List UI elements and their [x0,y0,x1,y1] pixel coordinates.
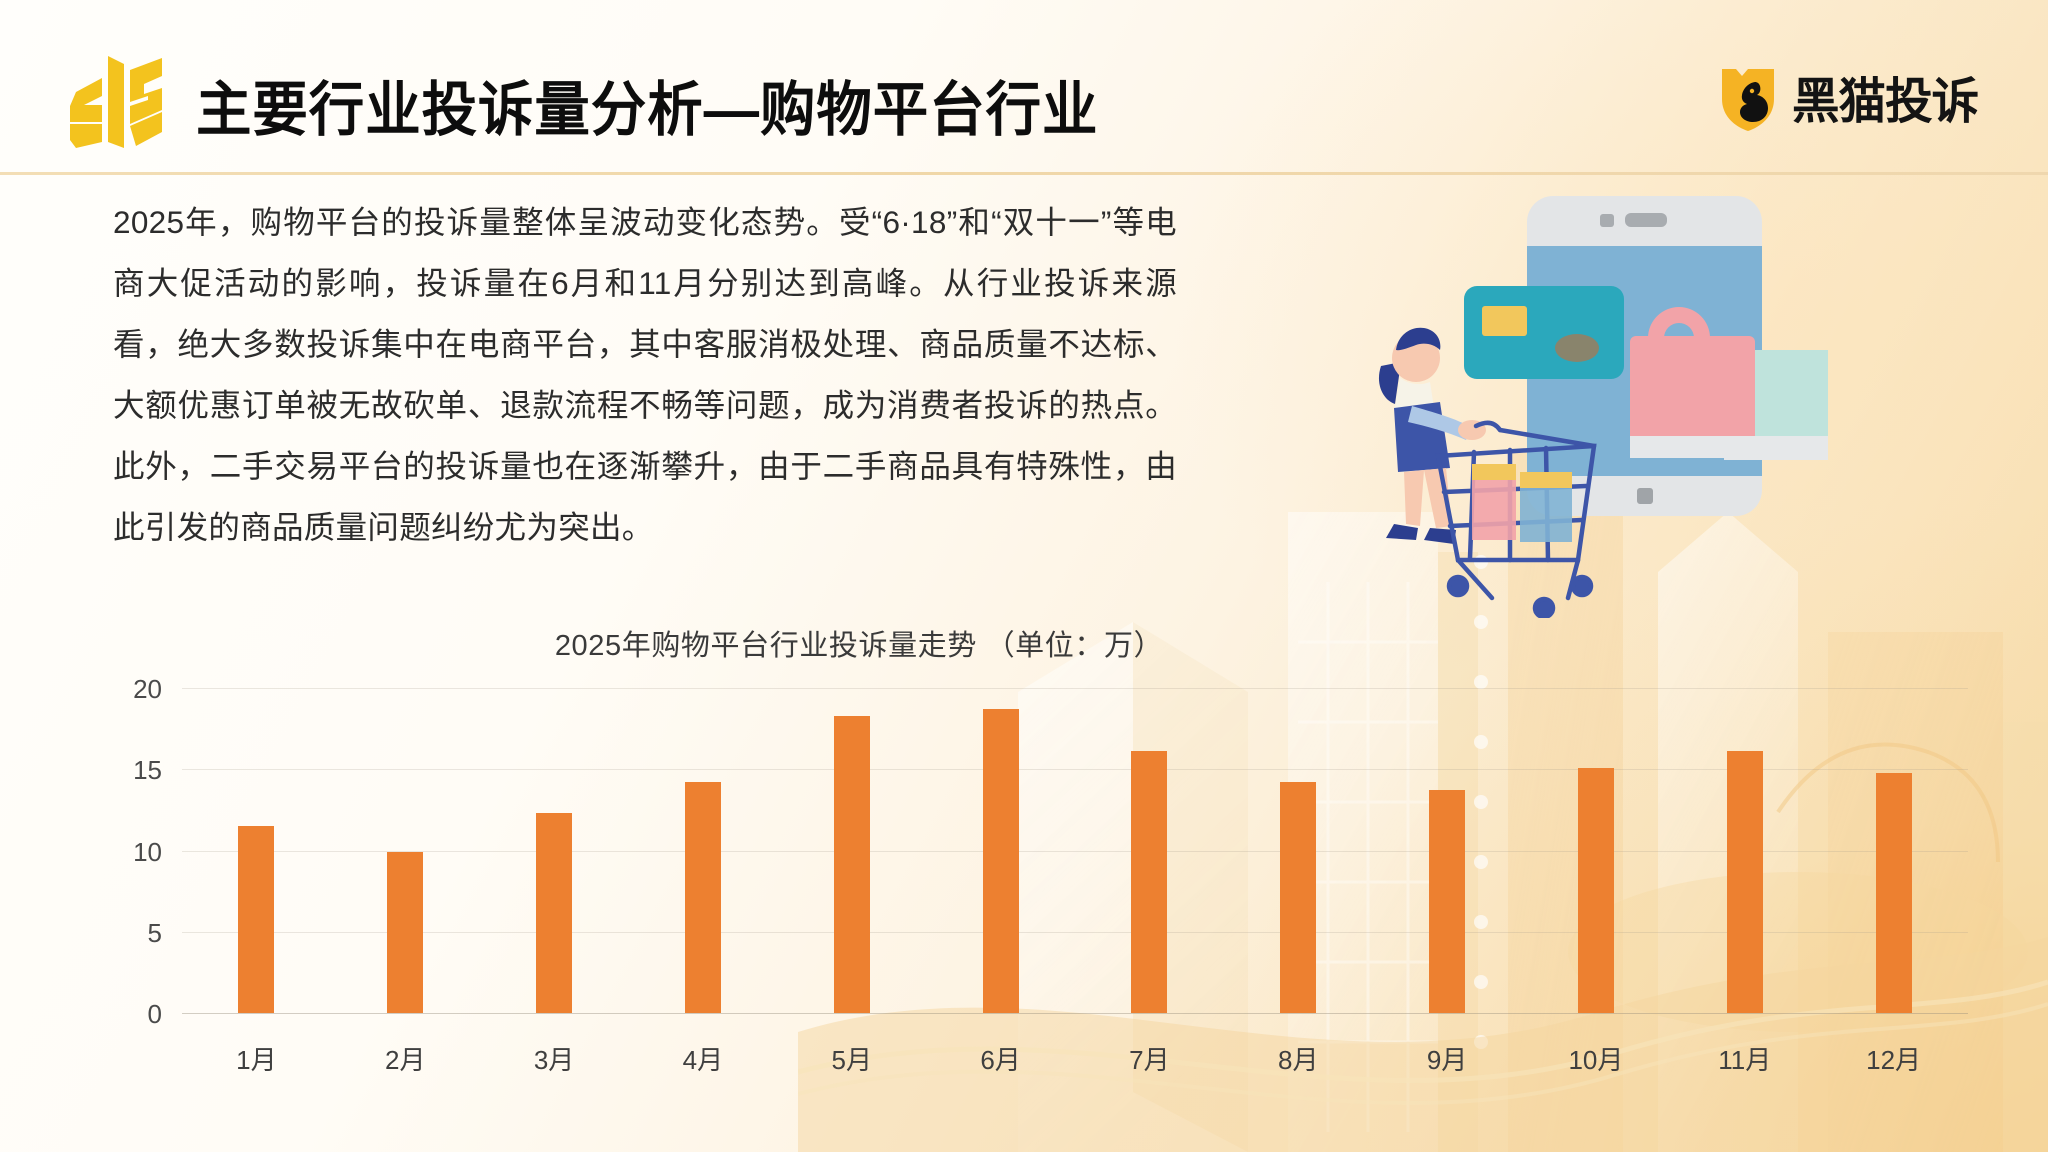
x-axis-label-11月: 11月 [1718,1040,1771,1077]
y-axis-label: 20 [100,674,162,705]
y-axis-label: 5 [100,918,162,949]
page-title: 主要行业投诉量分析—购物平台行业 [196,62,1098,147]
bar-3月[interactable] [536,813,572,1013]
body-paragraph: 2025年，购物平台的投诉量整体呈波动变化态势。受“6·18”和“双十一”等电商… [113,192,1177,558]
y-axis-label: 0 [100,999,162,1030]
x-axis-label-4月: 4月 [683,1040,723,1077]
bar-slot [331,688,480,1013]
online-shopping-security-illustration [1372,168,1842,618]
bar-6月[interactable] [983,709,1019,1013]
bar-slot [1373,688,1522,1013]
315-logo-icon [62,52,170,148]
x-axis-label-5月: 5月 [832,1040,872,1077]
shield-cat-icon [1719,65,1777,131]
bar-12月[interactable] [1876,773,1912,1014]
y-axis-label: 10 [100,837,162,868]
bar-slot [480,688,629,1013]
chart-plot-area [182,688,1968,1013]
gridline-0 [182,1013,1968,1014]
bar-10月[interactable] [1578,768,1614,1013]
credit-card-graphic [1464,286,1624,379]
bar-2月[interactable] [387,852,423,1013]
x-axis-label-9月: 9月 [1427,1040,1467,1077]
bar-7月[interactable] [1131,751,1167,1013]
brand-logo: 黑猫投诉 [1719,62,1984,133]
bar-slot [629,688,778,1013]
x-axis-label-8月: 8月 [1278,1040,1318,1077]
bar-11月[interactable] [1727,751,1763,1013]
slide-root: 主要行业投诉量分析—购物平台行业 黑猫投诉 2025年，购物平台的投诉量整体呈波… [0,0,2048,1152]
bar-9月[interactable] [1429,790,1465,1013]
x-axis-label-3月: 3月 [534,1040,574,1077]
chart-title: 2025年购物平台行业投诉量走势 （单位：万） [0,622,2048,664]
x-axis-label-12月: 12月 [1866,1040,1921,1077]
bar-4月[interactable] [685,782,721,1013]
bar-8月[interactable] [1280,782,1316,1013]
x-axis-label-2月: 2月 [385,1040,425,1077]
bar-1月[interactable] [238,826,274,1013]
bar-slot [1819,688,1968,1013]
page-header: 主要行业投诉量分析—购物平台行业 黑猫投诉 [0,0,2048,174]
bar-slot [182,688,331,1013]
bar-5月[interactable] [834,716,870,1013]
bar-slot [1075,688,1224,1013]
cart-items-graphic [1472,464,1572,542]
bar-slot [1670,688,1819,1013]
bar-slot [926,688,1075,1013]
bar-slot [777,688,926,1013]
y-axis-label: 15 [100,755,162,786]
x-axis-label-7月: 7月 [1129,1040,1169,1077]
bar-slot [1224,688,1373,1013]
x-axis-label-6月: 6月 [980,1040,1020,1077]
complaint-volume-bar-chart: 05101520 1月2月3月4月5月6月7月8月9月10月11月12月 [100,688,1980,1088]
x-axis-label-10月: 10月 [1568,1040,1623,1077]
x-axis-label-1月: 1月 [236,1040,276,1077]
brand-name: 黑猫投诉 [1792,62,1978,133]
bar-slot [1522,688,1671,1013]
